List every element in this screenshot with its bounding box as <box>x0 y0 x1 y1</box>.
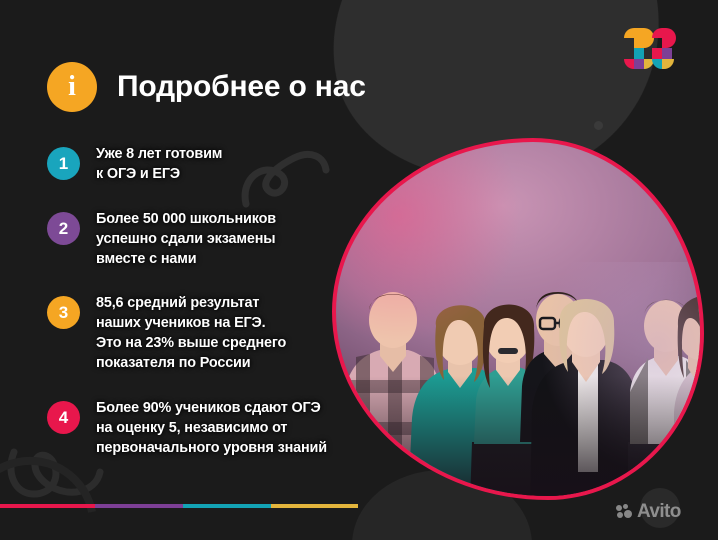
page-title: Подробнее о нас <box>117 70 366 104</box>
list-item-line: показателя по России <box>96 354 286 374</box>
list-item: 4 Более 90% учеников сдают ОГЭ на оценку… <box>47 399 357 459</box>
list-item-line: Более 90% учеников сдают ОГЭ <box>96 399 327 419</box>
list-item: 1 Уже 8 лет готовим к ОГЭ и ЕГЭ <box>47 145 357 185</box>
list-item-number: 1 <box>47 147 80 180</box>
heading-row: i Подробнее о нас <box>47 62 366 112</box>
list-item-text: 85,6 средний результат наших учеников на… <box>96 294 286 374</box>
team-photo <box>332 138 704 500</box>
list-item-line: Более 50 000 школьников <box>96 210 276 230</box>
benefits-list: 1 Уже 8 лет готовим к ОГЭ и ЕГЭ 2 Более … <box>47 145 357 481</box>
color-rule <box>0 504 358 508</box>
list-item: 3 85,6 средний результат наших учеников … <box>47 294 357 374</box>
rule-segment-crimson <box>0 504 95 508</box>
rule-segment-gold <box>271 504 358 508</box>
background-dot-small <box>594 121 603 130</box>
list-item-number: 4 <box>47 401 80 434</box>
info-badge-icon: i <box>47 62 97 112</box>
list-item: 2 Более 50 000 школьников успешно сдали … <box>47 210 357 270</box>
avito-wordmark: Avito <box>637 502 681 521</box>
team-photo-image <box>336 142 700 496</box>
list-item-line: вместе с нами <box>96 250 276 270</box>
photo-floor-shadow <box>336 376 700 496</box>
rule-segment-teal <box>183 504 271 508</box>
list-item-line: к ОГЭ и ЕГЭ <box>96 165 222 185</box>
list-item-line: на оценку 5, независимо от <box>96 419 327 439</box>
list-item-line: 85,6 средний результат <box>96 294 286 314</box>
list-item-text: Более 50 000 школьников успешно сдали эк… <box>96 210 276 270</box>
list-item-line: первоначального уровня знаний <box>96 439 327 459</box>
list-item-line: Уже 8 лет готовим <box>96 145 222 165</box>
avito-dots-icon <box>616 504 633 519</box>
list-item-number: 2 <box>47 212 80 245</box>
rule-segment-purple <box>95 504 183 508</box>
list-item-line: наших учеников на ЕГЭ. <box>96 314 286 334</box>
list-item-number: 3 <box>47 296 80 329</box>
team-photo-blob <box>332 138 704 500</box>
photo-light-glow <box>336 142 525 347</box>
brand-logo-99-icon <box>622 26 678 70</box>
list-item-text: Более 90% учеников сдают ОГЭ на оценку 5… <box>96 399 327 459</box>
list-item-line: Это на 23% выше среднего <box>96 334 286 354</box>
promo-slide: i Подробнее о нас 1 Уже 8 лет готовим к … <box>0 0 718 540</box>
list-item-line: успешно сдали экзамены <box>96 230 276 250</box>
list-item-text: Уже 8 лет готовим к ОГЭ и ЕГЭ <box>96 145 222 185</box>
avito-watermark: Avito <box>616 502 681 521</box>
